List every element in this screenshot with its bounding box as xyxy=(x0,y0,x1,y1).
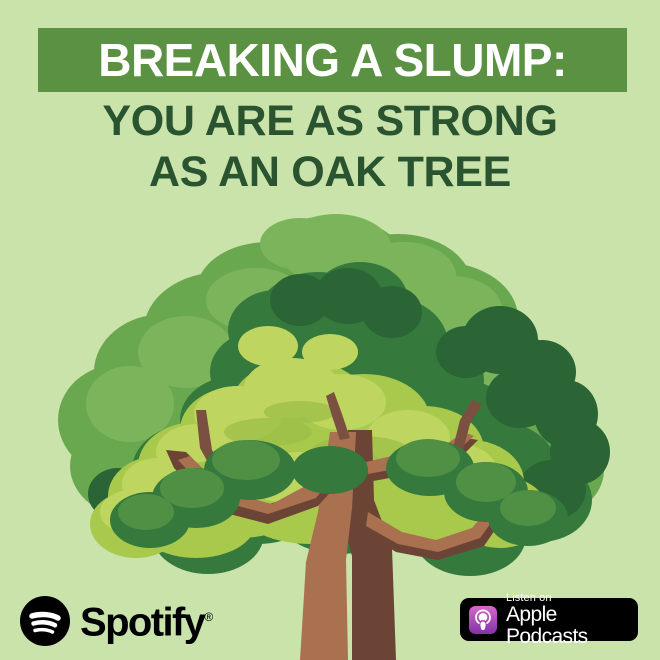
subheadline-line-1: YOU ARE AS STRONG xyxy=(0,96,660,147)
subheadline: YOU ARE AS STRONG AS AN OAK TREE xyxy=(0,96,660,198)
subheadline-line-2: AS AN OAK TREE xyxy=(0,147,660,198)
apple-podcasts-icon xyxy=(469,606,497,634)
spotify-wordmark: Spotify® xyxy=(80,597,213,642)
apple-podcasts-label: Listen on Apple Podcasts xyxy=(506,592,629,648)
spotify-wordmark-text: Spotify xyxy=(80,601,204,645)
spotify-badge[interactable]: Spotify® xyxy=(20,596,213,646)
podcast-cover-art: BREAKING A SLUMP: YOU ARE AS STRONG AS A… xyxy=(0,0,660,660)
spotify-icon xyxy=(20,596,70,646)
apple-podcasts-badge[interactable]: Listen on Apple Podcasts xyxy=(460,598,638,641)
headline: BREAKING A SLUMP: xyxy=(38,28,627,92)
listen-on-label: Listen on xyxy=(506,592,629,604)
apple-podcasts-name: Apple Podcasts xyxy=(506,604,629,648)
registered-trademark-icon: ® xyxy=(204,610,213,624)
